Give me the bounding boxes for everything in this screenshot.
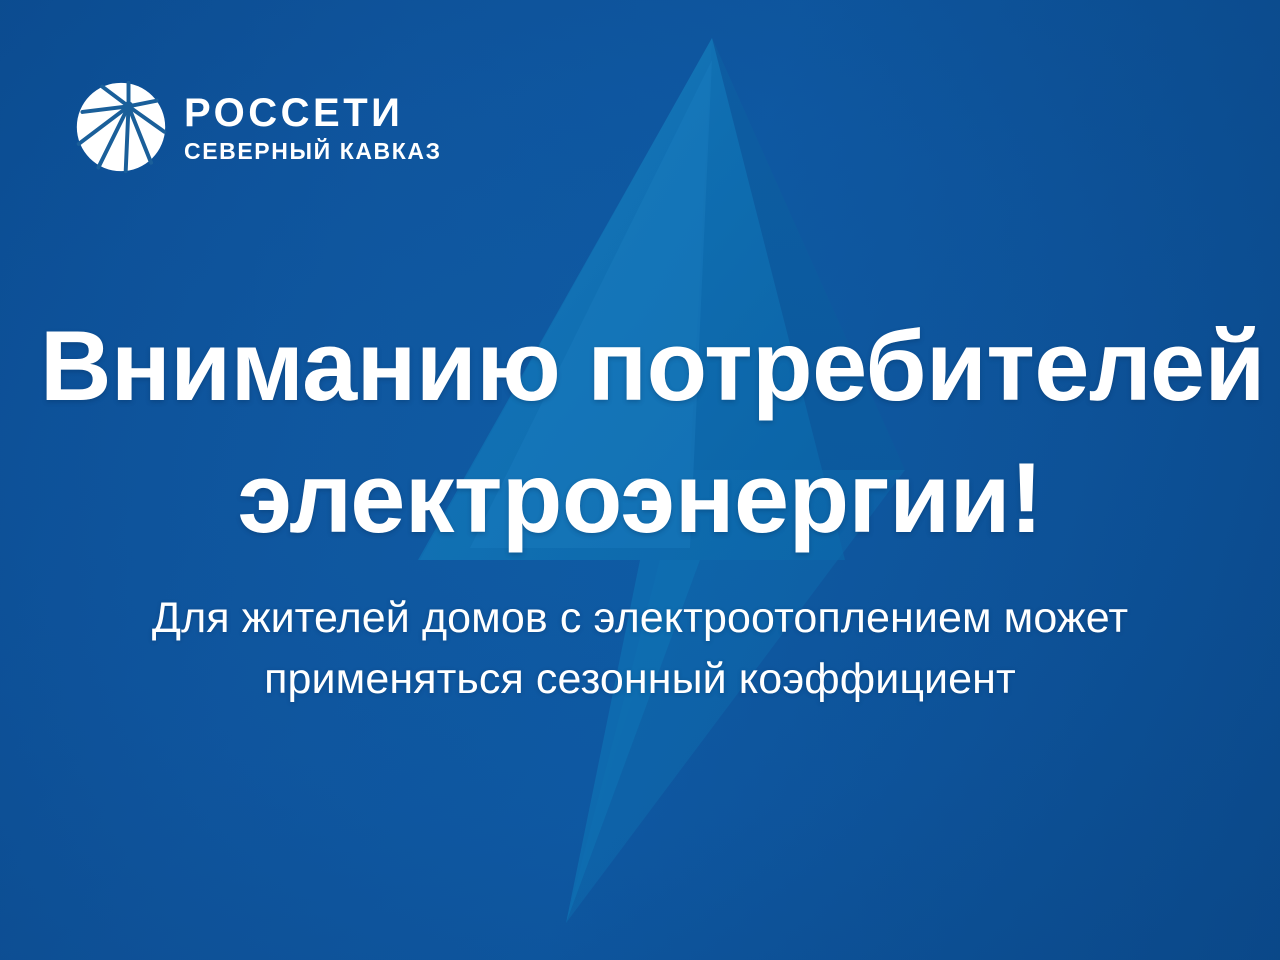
- poster-canvas: РОССЕТИ СЕВЕРНЫЙ КАВКАЗ Вниманию потреби…: [0, 0, 1280, 960]
- headline-line-2: электроэнергии!: [40, 432, 1240, 564]
- rosseti-sun-circle-icon: [74, 80, 168, 174]
- headline: Вниманию потребителей электроэнергии!: [0, 300, 1280, 563]
- subtitle-line-2: применяться сезонный коэффициент: [70, 649, 1210, 710]
- brand-wordmark: РОССЕТИ СЕВЕРНЫЙ КАВКАЗ: [184, 91, 442, 164]
- subtitle: Для жителей домов с электроотоплением мо…: [0, 588, 1280, 710]
- brand-name-secondary: СЕВЕРНЫЙ КАВКАЗ: [184, 139, 442, 163]
- subtitle-line-1: Для жителей домов с электроотоплением мо…: [70, 588, 1210, 649]
- brand-logo: РОССЕТИ СЕВЕРНЫЙ КАВКАЗ: [74, 80, 442, 174]
- brand-name-primary: РОССЕТИ: [184, 93, 442, 134]
- headline-line-1: Вниманию потребителей: [40, 300, 1240, 432]
